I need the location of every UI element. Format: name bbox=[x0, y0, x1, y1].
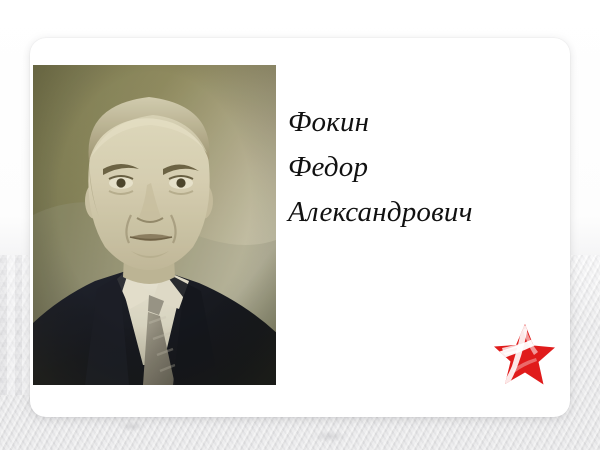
name-patronymic: Александрович bbox=[288, 190, 538, 235]
portrait-photo-image bbox=[33, 65, 276, 385]
portrait-photo bbox=[33, 65, 276, 385]
name-block: Фокин Федор Александрович bbox=[288, 100, 538, 235]
name-first: Федор bbox=[288, 145, 538, 190]
name-surname: Фокин bbox=[288, 100, 538, 145]
red-star-icon-shape bbox=[492, 322, 556, 388]
red-star-icon bbox=[492, 322, 556, 388]
slide-canvas: Фокин Федор Александрович bbox=[0, 0, 600, 450]
